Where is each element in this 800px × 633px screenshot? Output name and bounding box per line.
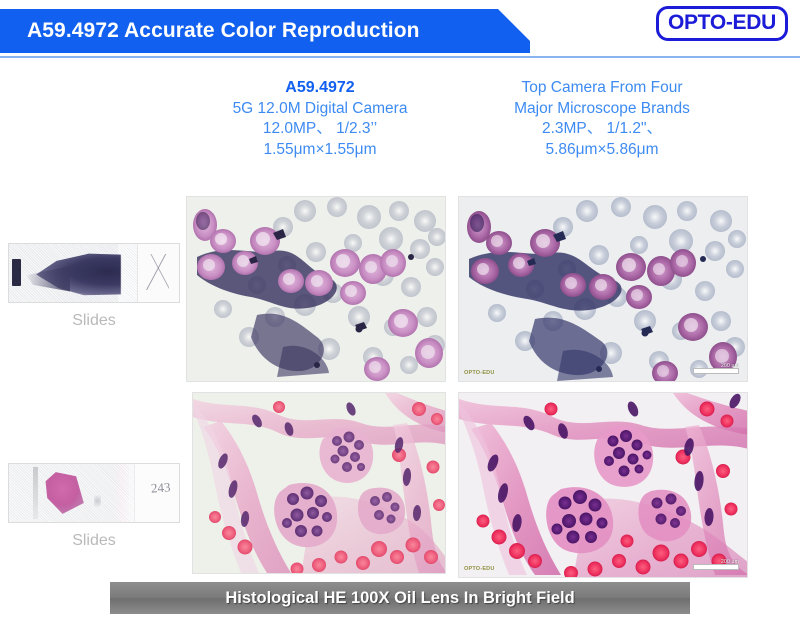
slide-thumbnail-block-2: 243 Slides — [8, 463, 180, 550]
right-pixel-size: 5.86μm×5.86μm — [456, 140, 748, 161]
micrograph-panel-top-right: OPTO-EDU 200 μm — [458, 196, 748, 382]
column-header-left: A59.4972 5G 12.0M Digital Camera 12.0MP、… — [186, 78, 454, 160]
scale-label-bottom-right: 200 μm — [721, 559, 739, 565]
right-title-line1: Top Camera From Four — [456, 78, 748, 99]
slide-label-number-2: 243 — [150, 480, 171, 497]
left-camera-desc: 5G 12.0M Digital Camera — [186, 99, 454, 120]
left-pixel-size: 1.55μm×1.55μm — [186, 140, 454, 161]
scale-label-top-right: 200 μm — [721, 363, 739, 369]
logo-text: OPTO-EDU — [668, 11, 776, 34]
slide-image-2: 243 — [8, 463, 180, 523]
right-title-line2: Major Microscope Brands — [456, 99, 748, 120]
slide-image-1 — [8, 243, 180, 303]
column-header-right: Top Camera From Four Major Microscope Br… — [456, 78, 748, 160]
watermark-bottom-right: OPTO-EDU — [464, 566, 495, 572]
micrograph-panel-top-left — [186, 196, 446, 382]
watermark-top-right: OPTO-EDU — [464, 370, 495, 376]
right-sensor-spec: 2.3MP、 1/1.2"、 — [456, 119, 748, 140]
micrograph-art-bottom-right — [459, 393, 748, 578]
micrograph-panel-bottom-left — [192, 392, 446, 574]
footer-caption-bar: Histological HE 100X Oil Lens In Bright … — [110, 582, 690, 614]
micrograph-art-top-right — [459, 197, 748, 382]
micrograph-panel-bottom-right: OPTO-EDU 200 μm — [458, 392, 748, 578]
header-divider — [0, 56, 800, 58]
footer-caption-text: Histological HE 100X Oil Lens In Bright … — [225, 589, 574, 608]
left-model-name: A59.4972 — [186, 78, 454, 99]
title-banner: A59.4972 Accurate Color Reproduction — [0, 9, 530, 53]
slide-thumbnail-block-1: Slides — [8, 243, 180, 330]
slide-caption-2: Slides — [8, 523, 180, 550]
page-header: A59.4972 Accurate Color Reproduction OPT… — [0, 0, 800, 62]
left-sensor-spec: 12.0MP、 1/2.3’’ — [186, 119, 454, 140]
page-title: A59.4972 Accurate Color Reproduction — [0, 19, 420, 43]
micrograph-art-top-left — [187, 197, 446, 382]
micrograph-art-bottom-left — [193, 393, 446, 574]
slide-caption-1: Slides — [8, 303, 180, 330]
opto-edu-logo: OPTO-EDU — [656, 6, 788, 41]
